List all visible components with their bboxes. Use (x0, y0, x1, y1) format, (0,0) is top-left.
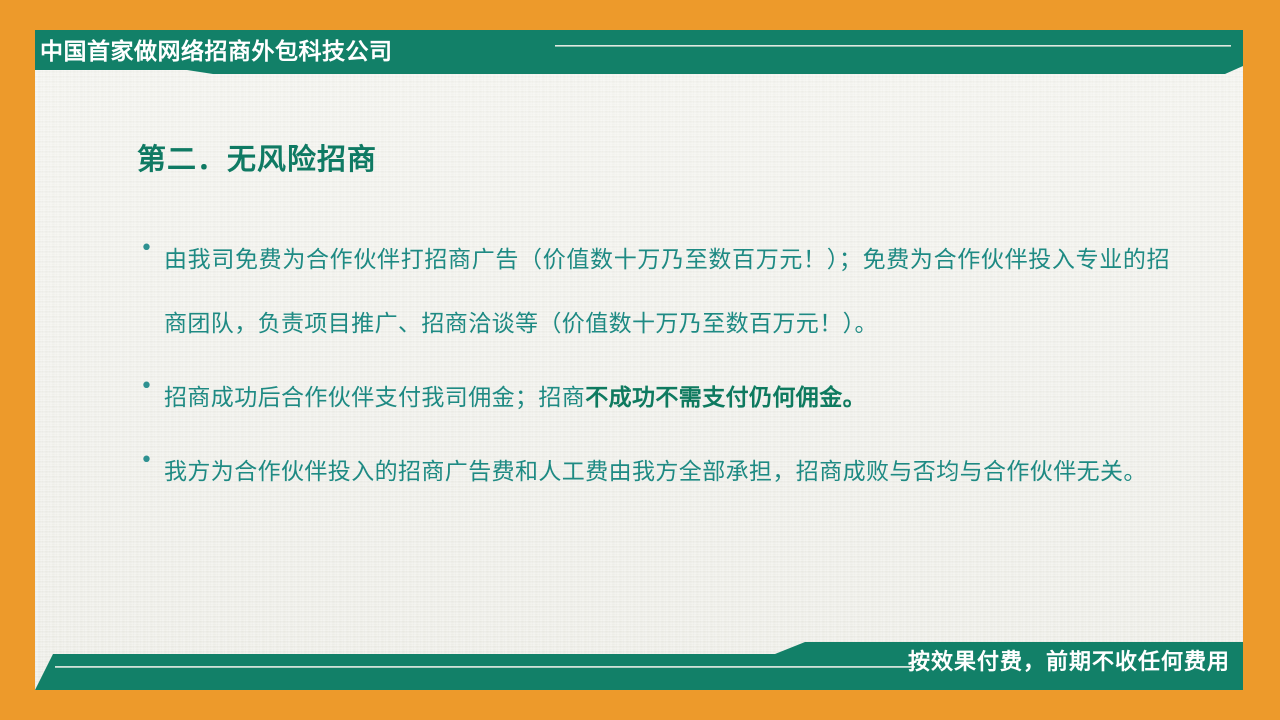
header-title: 中国首家做网络招商外包科技公司 (40, 36, 560, 68)
bullet-text: 招商成功后合作伙伴支付我司佣金；招商不成功不需支付仍何佣金。 (164, 366, 1170, 430)
bullet-dot-icon: • (140, 228, 164, 270)
list-item: • 我方为合作伙伴投入的招商广告费和人工费由我方全部承担，招商成败与否均与合作伙… (140, 440, 1170, 504)
footer-banner-hairline (55, 666, 915, 668)
bullet-dot-icon: • (140, 366, 164, 408)
bullet-text: 由我司免费为合作伙伴打招商广告（价值数十万乃至数百万元！）；免费为合作伙伴投入专… (164, 228, 1170, 356)
page-title: 第二．无风险招商 (137, 136, 377, 178)
bullet-text: 我方为合作伙伴投入的招商广告费和人工费由我方全部承担，招商成败与否均与合作伙伴无… (164, 440, 1170, 504)
bullet-dot-icon: • (140, 440, 164, 482)
bullet-text-normal: 我方为合作伙伴投入的招商广告费和人工费由我方全部承担，招商成败与否均与合作伙伴无… (164, 459, 1147, 484)
footer-tagline: 按效果付费，前期不收任何费用 (908, 648, 1230, 678)
bullet-text-normal: 招商成功后合作伙伴支付我司佣金；招商 (164, 385, 585, 410)
list-item: • 招商成功后合作伙伴支付我司佣金；招商不成功不需支付仍何佣金。 (140, 366, 1170, 430)
bullet-list: • 由我司免费为合作伙伴打招商广告（价值数十万乃至数百万元！）；免费为合作伙伴投… (140, 228, 1170, 514)
bullet-text-emphasis: 不成功不需支付仍何佣金。 (585, 385, 866, 411)
list-item: • 由我司免费为合作伙伴打招商广告（价值数十万乃至数百万元！）；免费为合作伙伴投… (140, 228, 1170, 356)
bullet-text-normal: 由我司免费为合作伙伴打招商广告（价值数十万乃至数百万元！）；免费为合作伙伴投入专… (164, 247, 1170, 336)
presentation-slide: 中国首家做网络招商外包科技公司 第二．无风险招商 • 由我司免费为合作伙伴打招商… (0, 0, 1280, 720)
header-banner-hairline (555, 45, 1231, 47)
